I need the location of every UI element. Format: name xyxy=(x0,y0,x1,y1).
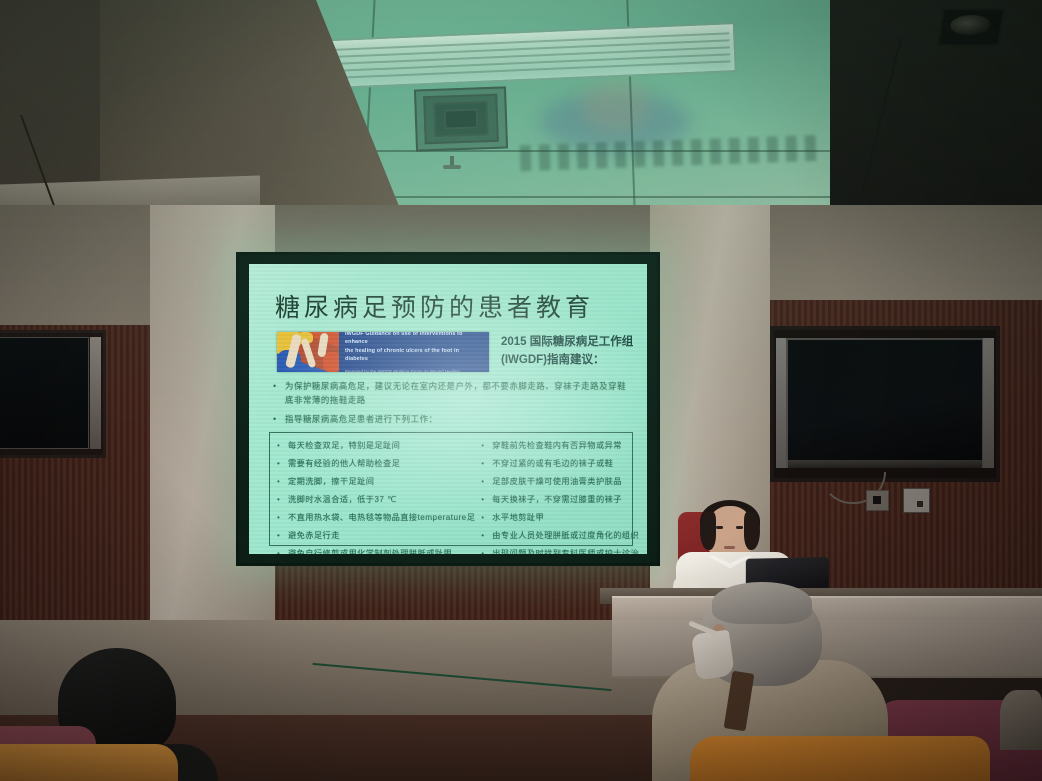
projection-spill-warm xyxy=(580,80,650,132)
speaker-mouth xyxy=(724,546,735,549)
slide-intro-block: • 为保护糖尿病高危足，建议无论在室内还是户外，都不要赤脚走路、穿袜子走路及穿鞋… xyxy=(273,380,629,432)
bullet-dot-icon: • xyxy=(481,440,487,452)
projected-slide: 糖尿病足预防的患者教育 IWGDF Guidance on use of int… xyxy=(249,264,647,554)
speaker-eye xyxy=(716,526,723,529)
wall-mounted-tv-left xyxy=(0,330,106,458)
list-item: •避免自行修剪或用化学制剂处理胼胝或趾甲 xyxy=(277,548,475,554)
bullet-text: 每天检查双足，特别是足趾间 xyxy=(288,440,400,452)
list-item: •每天检查双足，特别是足趾间 xyxy=(277,440,475,452)
bullet-text: 由专业人员处理胼胝或过度角化的组织 xyxy=(492,530,639,542)
iwgdf-guidance-banner: IWGDF Guidance on use of interventions t… xyxy=(277,332,489,372)
bullet-dot-icon: • xyxy=(277,548,283,554)
list-item: •洗脚时水温合适，低于37 ℃ xyxy=(277,494,475,506)
list-item: •定期洗脚，擦干足趾间 xyxy=(277,476,475,488)
list-item: •需要有经验的他人帮助检查足 xyxy=(277,458,475,470)
lecture-room-photo: 糖尿病足预防的患者教育 IWGDF Guidance on use of int… xyxy=(0,0,1042,781)
slide-title: 糖尿病足预防的患者教育 xyxy=(275,288,594,324)
wall-outlet-plate xyxy=(866,490,889,511)
face-mask-icon xyxy=(691,630,735,681)
list-item: •由专业人员处理胼胝或过度角化的组织 xyxy=(481,530,639,542)
audience-member-right-hair xyxy=(712,582,812,624)
intro-row: • 为保护糖尿病高危足，建议无论在室内还是户外，都不要赤脚走路、穿袜子走路及穿鞋… xyxy=(273,380,629,408)
bullet-column-left: •每天检查双足，特别是足趾间 •需要有经验的他人帮助检查足 •定期洗脚，擦干足趾… xyxy=(274,440,478,541)
list-item: •不穿过紧的或有毛边的袜子或鞋 xyxy=(481,458,639,470)
list-item: •避免赤足行走 xyxy=(277,530,475,542)
bullet-dot-icon: • xyxy=(277,476,283,488)
bullet-dot-icon: • xyxy=(277,512,283,524)
wall-mounted-tv-right xyxy=(770,326,1000,482)
bullet-text: 穿鞋前先检查鞋内有否异物或异常 xyxy=(492,440,622,452)
bullet-dot-icon: • xyxy=(277,530,283,542)
bullet-text: 每天换袜子，不穿需过膝重的袜子 xyxy=(492,494,622,506)
slide-bullet-box: •每天检查双足，特别是足趾间 •需要有经验的他人帮助检查足 •定期洗脚，擦干足趾… xyxy=(269,432,633,546)
bullet-dot-icon: • xyxy=(481,530,487,542)
speaker-hair-side xyxy=(744,512,760,550)
bullet-text: 避免自行修剪或用化学制剂处理胼胝或趾甲 xyxy=(288,548,452,554)
speaker-hair-side xyxy=(700,512,716,550)
banner-line-1: IWGDF Guidance on use of interventions t… xyxy=(345,332,483,347)
bullet-dot-icon: • xyxy=(481,458,487,470)
bullet-dot-icon: • xyxy=(277,458,283,470)
bullet-text: 避免赤足行走 xyxy=(288,530,340,542)
bullet-dot-icon: • xyxy=(273,380,280,408)
wall-switch-plate xyxy=(903,488,930,513)
audience-member-far-right xyxy=(1000,690,1042,750)
list-item: •每天换袜子，不穿需过膝重的袜子 xyxy=(481,494,639,506)
ceiling-dark-right xyxy=(830,0,1042,215)
list-item: •穿鞋前先检查鞋内有否异物或异常 xyxy=(481,440,639,452)
bullet-dot-icon: • xyxy=(273,413,280,427)
left-wall-upper xyxy=(0,205,152,325)
bullet-dot-icon: • xyxy=(481,494,487,506)
bullet-dot-icon: • xyxy=(481,476,487,488)
speaker-eye xyxy=(736,526,743,529)
bullet-text: 需要有经验的他人帮助检查足 xyxy=(288,458,400,470)
banner-line-3: Prepared by the IWGDF Working Group on W… xyxy=(345,369,483,372)
audience-chair-left xyxy=(0,744,178,781)
bullet-text: 不直用热水袋、电热毯等物品直接temperature足 xyxy=(288,512,475,524)
bullet-dot-icon: • xyxy=(481,512,487,524)
bullet-dot-icon: • xyxy=(277,494,283,506)
projection-screen: 糖尿病足预防的患者教育 IWGDF Guidance on use of int… xyxy=(236,252,660,566)
recessed-ceiling-light-icon xyxy=(937,8,1005,46)
list-item: •足部皮肤干燥可使用油膏类护肤品 xyxy=(481,476,639,488)
list-item: •不直用热水袋、电热毯等物品直接temperature足 xyxy=(277,512,475,524)
ceiling-air-vent-icon xyxy=(414,86,508,151)
intro-row: • 指导糖尿病高危足患者进行下列工作： xyxy=(273,413,629,427)
bullet-dot-icon: • xyxy=(277,440,283,452)
audience-chair-right xyxy=(690,736,990,781)
banner-line-2: the healing of chronic ulcers of the foo… xyxy=(345,347,483,364)
bullet-text: 足部皮肤干燥可使用油膏类护肤品 xyxy=(492,476,622,488)
intro-text: 指导糖尿病高危足患者进行下列工作： xyxy=(285,413,438,427)
bullet-column-right: •穿鞋前先检查鞋内有否异物或异常 •不穿过紧的或有毛边的袜子或鞋 •足部皮肤干燥… xyxy=(478,440,642,541)
list-item: •水平地剪趾甲 xyxy=(481,512,639,524)
bullet-text: 定期洗脚，擦干足趾间 xyxy=(288,476,374,488)
ceiling-sprinkler-icon xyxy=(443,156,461,174)
intro-text: 为保护糖尿病高危足，建议无论在室内还是户外，都不要赤脚走路、穿袜子走路及穿鞋底非… xyxy=(285,380,629,408)
bullet-text: 水平地剪趾甲 xyxy=(492,512,544,524)
list-item: •出现问题及时找到专科医师或护士诊治 xyxy=(481,548,639,554)
guideline-heading: 2015 国际糖尿病足工作组 (IWGDF)指南建议： xyxy=(501,334,647,370)
iwgdf-artwork-icon xyxy=(277,332,339,372)
bullet-dot-icon: • xyxy=(481,548,487,554)
bullet-text: 出现问题及时找到专科医师或护士诊治 xyxy=(492,548,639,554)
bullet-text: 洗脚时水温合适，低于37 ℃ xyxy=(288,494,397,506)
bullet-text: 不穿过紧的或有毛边的袜子或鞋 xyxy=(492,458,613,470)
